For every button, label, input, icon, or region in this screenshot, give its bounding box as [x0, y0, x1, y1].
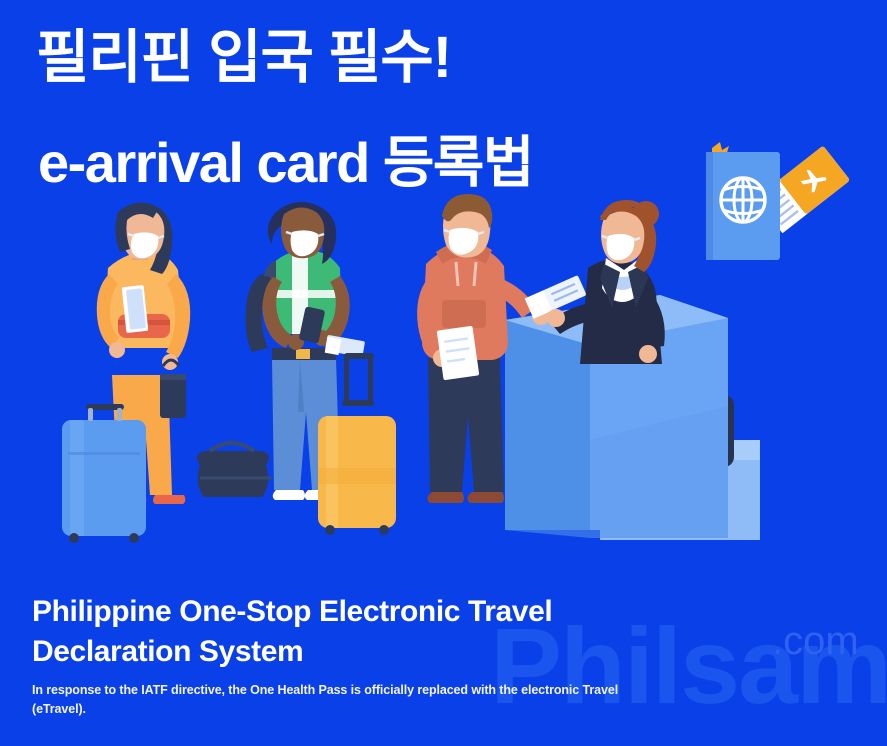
- page-subtitle: Philippine One-Stop Electronic Travel De…: [32, 592, 632, 671]
- page-body-text: In response to the IATF directive, the O…: [32, 681, 632, 719]
- watermark-tld: .com: [772, 621, 859, 661]
- suitcase-blue: [62, 404, 146, 543]
- documents-held-man: [437, 326, 480, 381]
- poster-canvas: Philsamo .com 필리핀 입국 필수! e-arrival card …: [0, 0, 887, 746]
- headline-main: e-arrival card 등록법: [38, 132, 533, 194]
- headline-korean: 필리핀 입국 필수!: [36, 26, 451, 90]
- duffel-navy: [197, 443, 272, 497]
- airport-scene-illustration: [0, 190, 887, 590]
